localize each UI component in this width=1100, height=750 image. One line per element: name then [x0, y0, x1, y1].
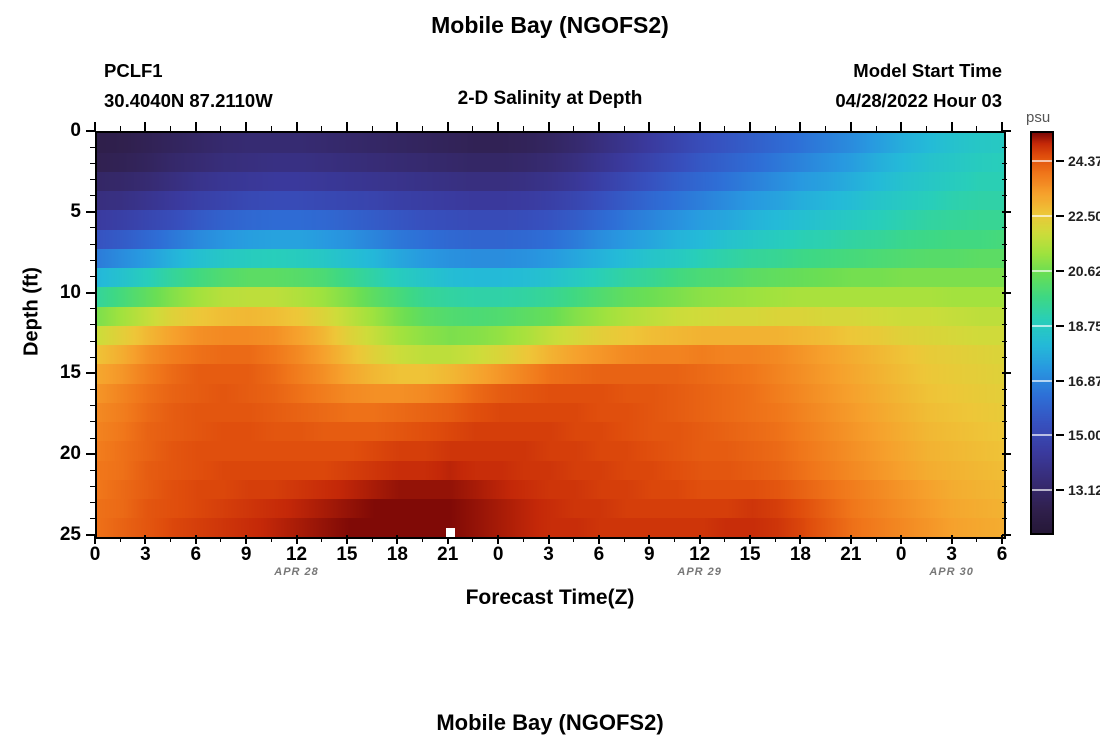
x-axis-minor-tick [775, 537, 776, 542]
x-axis-minor-tick [523, 537, 524, 542]
colorbar-tick [1056, 489, 1064, 491]
x-axis-tick [245, 535, 247, 544]
x-axis-tick [548, 122, 550, 131]
colorbar-tick-mark [1032, 489, 1052, 491]
x-axis-tick [850, 122, 852, 131]
x-axis-minor-tick [220, 126, 221, 131]
x-axis-tick [94, 535, 96, 544]
x-axis-minor-tick [120, 126, 121, 131]
footer-title: Mobile Bay (NGOFS2) [0, 710, 1100, 736]
page-title: Mobile Bay (NGOFS2) [0, 12, 1100, 39]
y-axis-tick-label: 0 [21, 121, 81, 141]
y-axis-minor-tick-right [1002, 308, 1007, 309]
colorbar-tick [1056, 215, 1064, 217]
x-axis-tick [346, 535, 348, 544]
x-axis-tick [699, 122, 701, 131]
y-axis-minor-tick [90, 486, 95, 487]
colorbar-tick-label: 16.875 [1068, 373, 1100, 389]
x-axis-tick [396, 122, 398, 131]
x-axis-tick [245, 122, 247, 131]
y-axis-tick [86, 292, 95, 294]
colorbar-tick [1056, 325, 1064, 327]
x-axis-tick [699, 535, 701, 544]
x-axis-tick [548, 535, 550, 544]
y-axis-minor-tick [90, 276, 95, 277]
x-axis-tick [749, 122, 751, 131]
x-axis-minor-tick [976, 537, 977, 542]
colorbar-tick [1056, 160, 1064, 162]
x-axis-minor-tick [523, 126, 524, 131]
x-axis-minor-tick [876, 126, 877, 131]
x-axis-minor-tick [876, 537, 877, 542]
x-axis-minor-tick [422, 537, 423, 542]
y-axis-title: Depth (ft) [21, 232, 44, 392]
y-axis-tick [86, 211, 95, 213]
x-axis-minor-tick [573, 537, 574, 542]
x-axis-tick-label: 9 [226, 544, 266, 566]
y-axis-tick [86, 453, 95, 455]
colorbar-gradient [1030, 131, 1054, 535]
y-axis-minor-tick [90, 244, 95, 245]
y-axis-minor-tick-right [1002, 227, 1007, 228]
y-axis-minor-tick [90, 227, 95, 228]
y-axis-minor-tick-right [1002, 405, 1007, 406]
x-axis-tick [144, 122, 146, 131]
y-axis-minor-tick-right [1002, 389, 1007, 390]
y-axis-minor-tick-right [1002, 502, 1007, 503]
x-axis-minor-tick [624, 537, 625, 542]
x-axis-minor-tick [472, 537, 473, 542]
colorbar-tick-mark [1032, 434, 1052, 436]
x-axis-tick-label: 12 [680, 544, 720, 566]
x-axis-minor-tick [472, 126, 473, 131]
x-axis-tick [396, 535, 398, 544]
x-axis-tick [195, 535, 197, 544]
y-axis-tick [86, 534, 95, 536]
colorbar-tick-mark [1032, 325, 1052, 327]
y-axis-minor-tick [90, 438, 95, 439]
y-axis-tick [86, 372, 95, 374]
x-axis-tick [951, 122, 953, 131]
x-axis-minor-tick [926, 537, 927, 542]
colorbar-tick-label: 20.625 [1068, 263, 1100, 279]
x-axis-minor-tick [674, 126, 675, 131]
x-axis-minor-tick [271, 126, 272, 131]
x-axis-tick [799, 122, 801, 131]
x-axis-tick-label: 6 [176, 544, 216, 566]
x-axis-minor-tick [724, 126, 725, 131]
y-axis-minor-tick [90, 502, 95, 503]
colorbar-tick-label: 18.750 [1068, 318, 1100, 334]
x-axis-minor-tick [573, 126, 574, 131]
colorbar-tick-mark [1032, 270, 1052, 272]
x-axis-tick [648, 122, 650, 131]
x-axis-tick [296, 535, 298, 544]
x-axis-tick-label: 21 [428, 544, 468, 566]
colorbar-tick-mark [1032, 160, 1052, 162]
x-axis-minor-tick [422, 126, 423, 131]
y-axis-tick-label: 25 [21, 525, 81, 545]
y-axis-tick [86, 130, 95, 132]
y-axis-tick-right [1002, 534, 1011, 536]
y-axis-minor-tick [90, 308, 95, 309]
x-axis-tick [900, 122, 902, 131]
x-axis-tick [346, 122, 348, 131]
colorbar-tick-mark [1032, 215, 1052, 217]
x-axis-tick-label: 9 [629, 544, 669, 566]
x-axis-minor-tick [624, 126, 625, 131]
x-axis-tick-label: 3 [932, 544, 972, 566]
x-axis-tick-label: 15 [327, 544, 367, 566]
x-axis-tick [195, 122, 197, 131]
y-axis-minor-tick-right [1002, 276, 1007, 277]
colorbar-tick-label: 22.500 [1068, 208, 1100, 224]
station-id: PCLF1 [104, 56, 273, 86]
x-axis-minor-tick [775, 126, 776, 131]
y-axis-tick-right [1002, 130, 1011, 132]
x-axis-tick-label: 0 [478, 544, 518, 566]
x-axis-minor-tick [825, 537, 826, 542]
model-start-time-value: 04/28/2022 Hour 03 [835, 86, 1002, 116]
x-axis-tick [447, 122, 449, 131]
heatmap-plot-area [95, 131, 1006, 539]
x-axis-minor-tick [724, 537, 725, 542]
x-axis-minor-tick [926, 126, 927, 131]
colorbar-tick-label: 13.125 [1068, 482, 1100, 498]
y-axis-minor-tick-right [1002, 486, 1007, 487]
y-axis-minor-tick [90, 260, 95, 261]
x-axis-tick [799, 535, 801, 544]
x-axis-date-label: APR 29 [655, 566, 745, 578]
salinity-heatmap [97, 133, 1004, 537]
x-axis-tick [749, 535, 751, 544]
y-axis-minor-tick-right [1002, 163, 1007, 164]
x-axis-minor-tick [372, 537, 373, 542]
y-axis-minor-tick [90, 470, 95, 471]
x-axis-tick-label: 12 [277, 544, 317, 566]
colorbar-tick-mark [1032, 380, 1052, 382]
y-axis-minor-tick-right [1002, 147, 1007, 148]
x-axis-tick-label: 0 [75, 544, 115, 566]
y-axis-minor-tick-right [1002, 324, 1007, 325]
x-axis-tick-label: 6 [982, 544, 1022, 566]
y-axis-minor-tick [90, 163, 95, 164]
y-axis-minor-tick-right [1002, 438, 1007, 439]
station-depth-marker [446, 528, 455, 537]
x-axis-tick [1001, 535, 1003, 544]
model-start-time-block: Model Start Time 04/28/2022 Hour 03 [835, 56, 1002, 116]
y-axis-minor-tick [90, 341, 95, 342]
colorbar-tick-label: 24.375 [1068, 153, 1100, 169]
colorbar-tick [1056, 270, 1064, 272]
x-axis-minor-tick [825, 126, 826, 131]
y-axis-tick-right [1002, 453, 1011, 455]
colorbar [1030, 131, 1054, 535]
y-axis-minor-tick [90, 324, 95, 325]
y-axis-minor-tick [90, 421, 95, 422]
y-axis-tick-right [1002, 372, 1011, 374]
x-axis-tick [951, 535, 953, 544]
y-axis-minor-tick-right [1002, 357, 1007, 358]
x-axis-tick-label: 3 [125, 544, 165, 566]
y-axis-minor-tick-right [1002, 421, 1007, 422]
y-axis-minor-tick [90, 389, 95, 390]
x-axis-tick [648, 535, 650, 544]
x-axis-minor-tick [220, 537, 221, 542]
x-axis-tick-label: 3 [529, 544, 569, 566]
y-axis-minor-tick [90, 195, 95, 196]
y-axis-minor-tick [90, 179, 95, 180]
colorbar-tick [1056, 380, 1064, 382]
x-axis-tick-label: 18 [377, 544, 417, 566]
x-axis-minor-tick [271, 537, 272, 542]
x-axis-tick [497, 535, 499, 544]
y-axis-tick-label: 20 [21, 444, 81, 464]
y-axis-minor-tick-right [1002, 260, 1007, 261]
x-axis-tick-label: 6 [579, 544, 619, 566]
salinity-figure: Mobile Bay (NGOFS2) PCLF1 30.4040N 87.21… [0, 0, 1100, 750]
y-axis-minor-tick [90, 357, 95, 358]
y-axis-minor-tick-right [1002, 518, 1007, 519]
x-axis-tick [850, 535, 852, 544]
y-axis-minor-tick-right [1002, 179, 1007, 180]
x-axis-tick [598, 535, 600, 544]
x-axis-tick-label: 18 [780, 544, 820, 566]
x-axis-tick [598, 122, 600, 131]
y-axis-minor-tick-right [1002, 341, 1007, 342]
x-axis-tick-label: 21 [831, 544, 871, 566]
x-axis-minor-tick [170, 537, 171, 542]
x-axis-tick [296, 122, 298, 131]
model-start-time-label: Model Start Time [835, 56, 1002, 86]
y-axis-tick-right [1002, 211, 1011, 213]
y-axis-minor-tick-right [1002, 470, 1007, 471]
y-axis-minor-tick [90, 405, 95, 406]
x-axis-minor-tick [120, 537, 121, 542]
x-axis-date-label: APR 30 [907, 566, 997, 578]
x-axis-tick [497, 122, 499, 131]
x-axis-tick-label: 15 [730, 544, 770, 566]
x-axis-minor-tick [321, 126, 322, 131]
x-axis-minor-tick [372, 126, 373, 131]
colorbar-unit-label: psu [1026, 109, 1050, 126]
colorbar-tick-label: 15.000 [1068, 427, 1100, 443]
x-axis-tick [900, 535, 902, 544]
x-axis-tick-label: 0 [881, 544, 921, 566]
y-axis-minor-tick-right [1002, 244, 1007, 245]
y-axis-minor-tick-right [1002, 195, 1007, 196]
y-axis-minor-tick [90, 518, 95, 519]
colorbar-tick [1056, 434, 1064, 436]
x-axis-tick [144, 535, 146, 544]
x-axis-title: Forecast Time(Z) [0, 586, 1100, 610]
x-axis-minor-tick [674, 537, 675, 542]
y-axis-minor-tick [90, 147, 95, 148]
y-axis-tick-label: 5 [21, 202, 81, 222]
x-axis-minor-tick [321, 537, 322, 542]
x-axis-date-label: APR 28 [252, 566, 342, 578]
y-axis-tick-right [1002, 292, 1011, 294]
x-axis-minor-tick [976, 126, 977, 131]
x-axis-minor-tick [170, 126, 171, 131]
